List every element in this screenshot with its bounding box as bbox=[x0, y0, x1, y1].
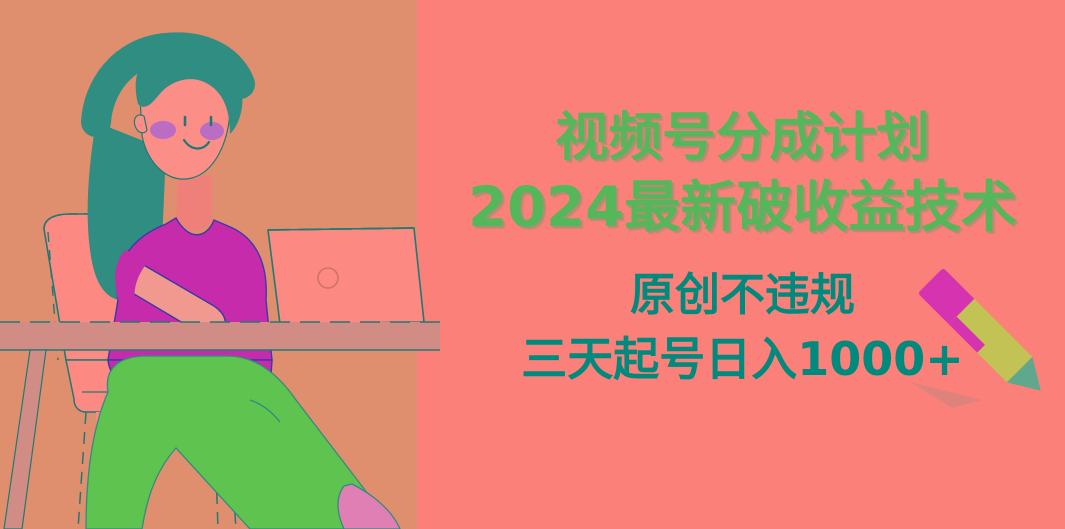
illustration-woman-laptop bbox=[0, 0, 440, 529]
text-block: 视频号分成计划 2024最新破收益技术 原创不违规 三天起号日入1000+ bbox=[420, 0, 1065, 529]
poster-canvas: 视频号分成计划 2024最新破收益技术 原创不违规 三天起号日入1000+ bbox=[0, 0, 1065, 529]
headline-line-1: 视频号分成计划 bbox=[410, 112, 1065, 164]
subheadline-line-1: 原创不违规 bbox=[420, 272, 1065, 317]
headline-line-2: 2024最新破收益技术 bbox=[414, 180, 1065, 235]
desk-top bbox=[0, 322, 440, 350]
neck bbox=[176, 176, 212, 231]
foot bbox=[338, 484, 400, 529]
chair-leg-left bbox=[78, 412, 86, 529]
blush-left bbox=[150, 121, 176, 139]
desk-leg bbox=[4, 350, 46, 529]
subheadline-line-2: 三天起号日入1000+ bbox=[420, 336, 1065, 382]
laptop-lid bbox=[268, 228, 424, 324]
